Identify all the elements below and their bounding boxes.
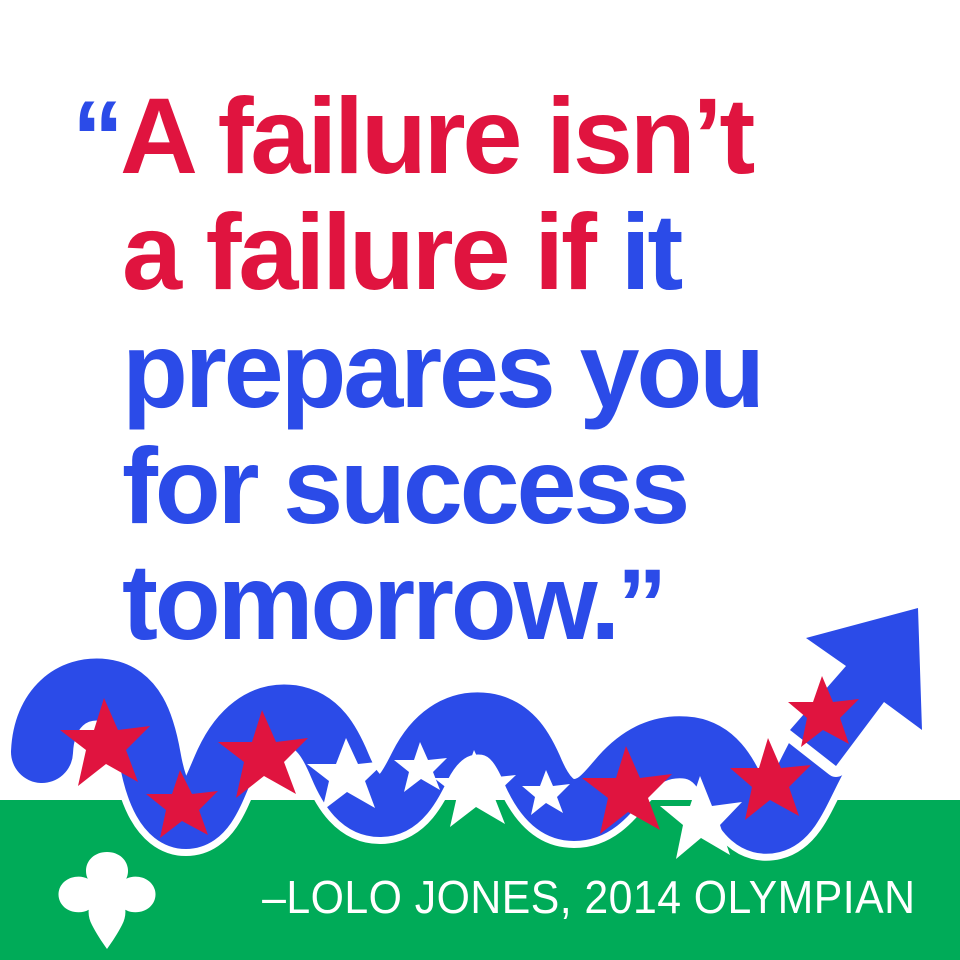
- quote-line-4-blue: for success: [122, 425, 687, 546]
- quote-graphic-canvas: “A failure isn’t a failure if it prepare…: [0, 0, 960, 960]
- open-quote-mark: “: [72, 80, 118, 196]
- quote-line-1-red: A failure isn’t: [120, 75, 752, 196]
- quote-line-2: a failure if it: [122, 194, 680, 310]
- quote-line-2-blue-word: it: [621, 191, 681, 312]
- quote-line-2-red: a failure if: [122, 191, 594, 312]
- quote-line-3: prepares you: [122, 312, 762, 428]
- quote-line-1: “A failure isn’t: [72, 78, 752, 196]
- attribution: –LOLO JONES, 2014 OLYMPIAN: [205, 866, 915, 928]
- arrow-head: [790, 608, 922, 766]
- quote-line-5: tomorrow.”: [122, 544, 663, 663]
- attribution-text: –LOLO JONES, 2014 OLYMPIAN: [262, 870, 915, 924]
- quote-line-3-blue: prepares you: [122, 309, 762, 430]
- quote-line-2-blue: [594, 191, 621, 312]
- girl-scouts-trefoil-logo-icon: [56, 848, 158, 952]
- quote-line-4: for success: [122, 428, 687, 544]
- quote-line-5-blue: tomorrow.: [122, 541, 617, 662]
- close-quote-mark: ”: [617, 549, 663, 661]
